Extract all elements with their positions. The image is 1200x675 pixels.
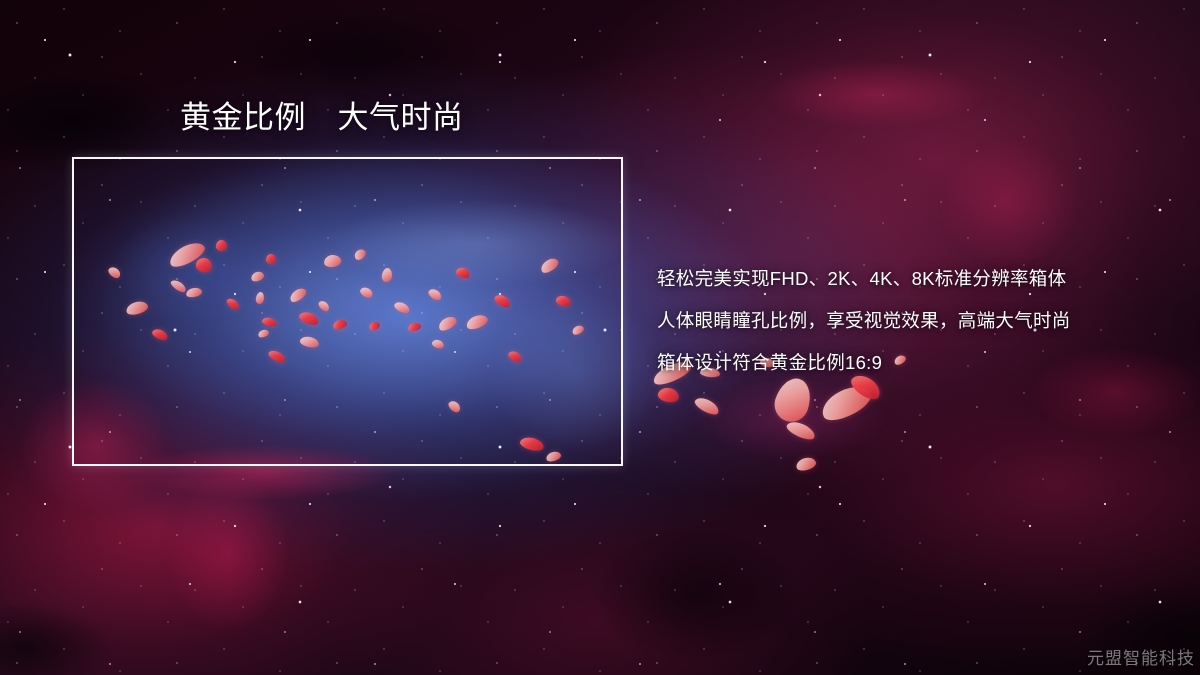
feature-line-2: 人体眼睛瞳孔比例，享受视觉效果，高端大气时尚 [657,300,1177,342]
flower-petal [693,395,722,418]
flower-petal [795,455,818,472]
brand-watermark: 元盟智能科技 [1087,644,1195,669]
feature-line-3: 箱体设计符合黄金比例16:9 [657,342,1177,384]
presentation-slide: 黄金比例 大气时尚 轻松完美实现FHD、2K、4K、8K标准分辨率箱体 人体眼睛… [0,0,1200,675]
feature-description-block: 轻松完美实现FHD、2K、4K、8K标准分辨率箱体 人体眼睛瞳孔比例，享受视觉效… [657,258,1177,384]
feature-line-1: 轻松完美实现FHD、2K、4K、8K标准分辨率箱体 [657,258,1177,300]
display-panel-frame [72,157,623,466]
flower-petal [817,380,875,426]
flower-petal [657,386,680,403]
flower-petal [785,418,818,442]
page-title: 黄金比例 大气时尚 [180,100,464,137]
